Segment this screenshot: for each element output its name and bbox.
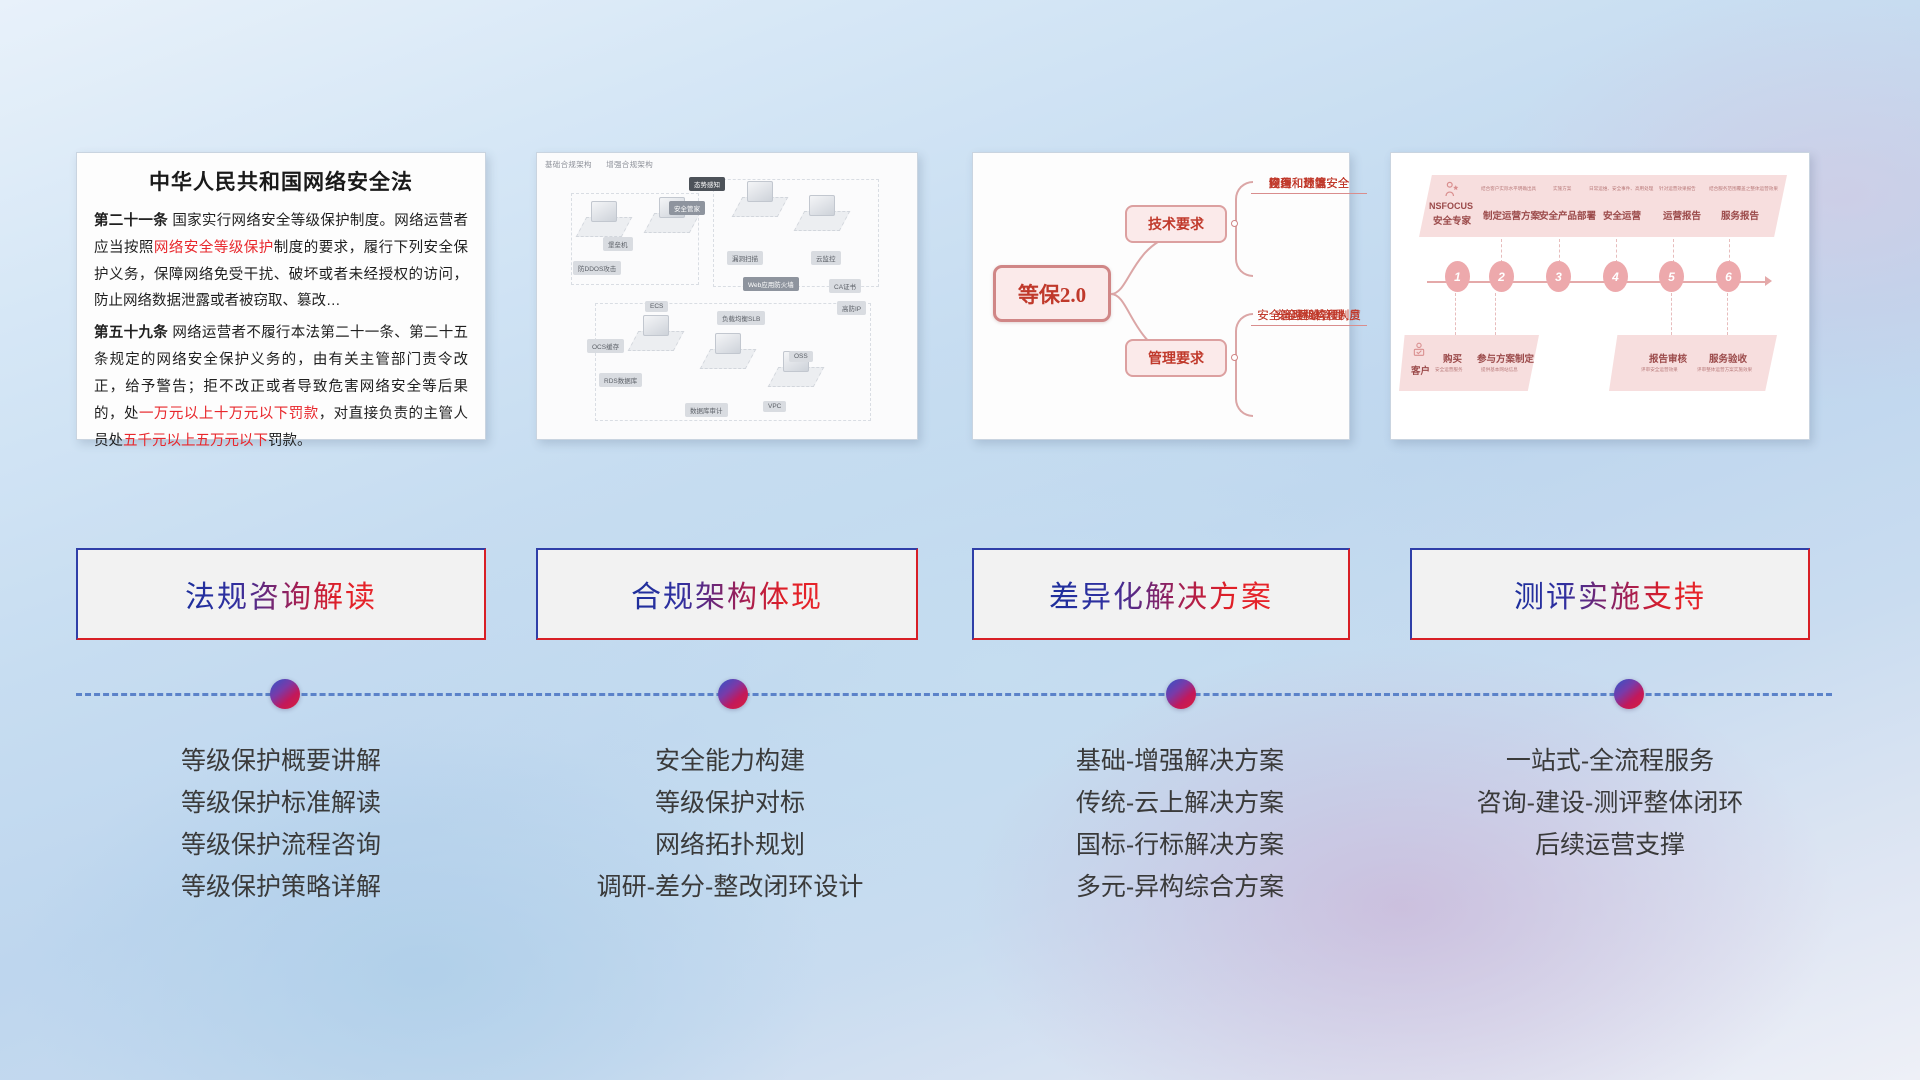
flow-step-number: 3 bbox=[1546, 261, 1571, 292]
flow-top-step-desc: 实施方案 bbox=[1553, 186, 1571, 192]
detail-column-compliance: 安全能力构建 等级保护对标 网络拓扑规划 调研-差分-整改闭环设计 bbox=[500, 740, 960, 908]
flow-tick bbox=[1727, 293, 1728, 335]
heading-label: 法规咨询解读 bbox=[185, 572, 377, 616]
mindmap-branch-tech: 技术要求 bbox=[1125, 205, 1227, 243]
timeline-dot-1[interactable] bbox=[270, 679, 300, 709]
heading-label: 差异化解决方案 bbox=[1049, 572, 1273, 616]
detail-column-assessment: 一站式-全流程服务 咨询-建设-测评整体闭环 后续运营支撑 bbox=[1400, 740, 1820, 866]
flow-top-band bbox=[1419, 175, 1787, 237]
mindmap-card[interactable]: 等保2.0 技术要求 管理要求 物理和环境安全 网络和通信安全 设备和计算安全 … bbox=[972, 152, 1350, 440]
law-article-21-highlight: 网络安全等级保护 bbox=[154, 240, 274, 256]
architecture-node-butler: 安全管家 bbox=[669, 201, 705, 215]
heading-label: 测评实施支持 bbox=[1514, 572, 1706, 616]
operation-flow-card[interactable]: NSFOCUS 安全专家 结合客户实际水平明确出具 制定运营方案 实施方案 安全… bbox=[1390, 152, 1810, 440]
flow-top-step-title: 服务报告 bbox=[1721, 208, 1759, 222]
flow-step-number: 4 bbox=[1603, 261, 1628, 292]
law-card[interactable]: 中华人民共和国网络安全法 第二十一条 国家实行网络安全等级保护制度。网络运营者应… bbox=[76, 152, 486, 440]
detail-column-regulation: 等级保护概要讲解 等级保护标准解读 等级保护流程咨询 等级保护策略详解 bbox=[76, 740, 486, 908]
flow-step-number: 5 bbox=[1659, 261, 1684, 292]
heading-label: 合规架构体现 bbox=[631, 572, 823, 616]
flow-top-step-desc: 针对运营效果报告 bbox=[1659, 186, 1696, 192]
flow-bottom-step-title: 购买 bbox=[1443, 351, 1462, 365]
law-card-title: 中华人民共和国网络安全法 bbox=[77, 166, 485, 196]
flow-top-step-title: 安全运营 bbox=[1603, 208, 1641, 222]
heading-box-assessment[interactable]: 测评实施支持 bbox=[1410, 548, 1810, 640]
architecture-legend: 基础合规架构 增强合规架构 bbox=[545, 159, 665, 170]
law-article-59: 第五十九条 网络运营者不履行本法第二十一条、第二十五条规定的网络安全保护义务的，… bbox=[94, 320, 468, 454]
list-item: 安全能力构建 bbox=[500, 740, 960, 782]
image-card-row: 中华人民共和国网络安全法 第二十一条 国家实行网络安全等级保护制度。网络运营者应… bbox=[0, 152, 1920, 444]
list-item: 等级保护流程咨询 bbox=[76, 824, 486, 866]
flow-tick bbox=[1501, 239, 1502, 263]
architecture-node-shield: 态势感知 bbox=[689, 177, 725, 191]
timeline-dot-4[interactable] bbox=[1614, 679, 1644, 709]
list-item: 传统-云上解决方案 bbox=[980, 782, 1380, 824]
flow-bottom-right-band bbox=[1609, 335, 1777, 391]
list-item: 等级保护策略详解 bbox=[76, 866, 486, 908]
mindmap-leaf: 安全运维管理 bbox=[1251, 307, 1367, 326]
list-item: 国标-行标解决方案 bbox=[980, 824, 1380, 866]
flow-step-number: 6 bbox=[1716, 261, 1741, 292]
flow-tick bbox=[1559, 239, 1560, 263]
architecture-zone-2 bbox=[713, 179, 879, 287]
architecture-server-4 bbox=[809, 195, 835, 216]
flow-top-step-desc: 日常运维、安全事件、高用处理 bbox=[1589, 186, 1653, 192]
list-item: 网络拓扑规划 bbox=[500, 824, 960, 866]
architecture-server-3 bbox=[747, 181, 773, 202]
flow-bottom-step-desc: 提供基本网站信息 bbox=[1481, 367, 1518, 373]
flow-top-step-desc: 结合服务范围覆盖之整体运营效果 bbox=[1709, 186, 1778, 192]
flow-top-step-desc: 结合客户实际水平明确出具 bbox=[1481, 186, 1536, 192]
law-article-59-highlight-2: 五千元以上五万元以下 bbox=[123, 433, 268, 449]
list-item: 一站式-全流程服务 bbox=[1400, 740, 1820, 782]
law-article-59-highlight-1: 一万元以上十万元以下罚款 bbox=[139, 406, 319, 422]
heading-box-compliance[interactable]: 合规架构体现 bbox=[536, 548, 918, 640]
timeline-dashed-line bbox=[76, 693, 1832, 696]
law-article-59-label: 第五十九条 bbox=[94, 325, 168, 341]
architecture-node-waf: Web应用防火墙 bbox=[743, 277, 799, 291]
mindmap-root-node: 等保2.0 bbox=[993, 265, 1111, 322]
architecture-node-ddos: 防DDOS攻击 bbox=[573, 261, 621, 275]
flow-tick bbox=[1729, 239, 1730, 263]
architecture-node-ecs: ECS bbox=[645, 301, 668, 312]
architecture-node-bastion: 堡垒机 bbox=[603, 237, 633, 251]
flow-top-step-title: 运营报告 bbox=[1663, 208, 1701, 222]
flow-bottom-step-desc: 评审安全运营效果 bbox=[1641, 367, 1678, 373]
flow-tick bbox=[1495, 293, 1496, 335]
mindmap-diagram: 等保2.0 技术要求 管理要求 物理和环境安全 网络和通信安全 设备和计算安全 … bbox=[973, 153, 1349, 439]
architecture-server-5 bbox=[643, 315, 669, 336]
list-item: 调研-差分-整改闭环设计 bbox=[500, 866, 960, 908]
heading-box-regulation[interactable]: 法规咨询解读 bbox=[76, 548, 486, 640]
operation-flow-diagram: NSFOCUS 安全专家 结合客户实际水平明确出具 制定运营方案 实施方案 安全… bbox=[1391, 153, 1809, 439]
flow-tick bbox=[1455, 293, 1456, 335]
law-card-body: 第二十一条 国家实行网络安全等级保护制度。网络运营者应当按照网络安全等级保护制度… bbox=[77, 196, 485, 454]
customer-icon bbox=[1411, 341, 1427, 359]
architecture-node-slb: 负载均衡SLB bbox=[717, 311, 765, 325]
architecture-node-monitor: 云监控 bbox=[811, 251, 841, 265]
flow-step-number: 2 bbox=[1489, 261, 1514, 292]
architecture-node-scan: 漏洞扫描 bbox=[727, 251, 763, 265]
flow-bottom-step-desc: 评审整体运营方案实施效果 bbox=[1697, 367, 1752, 373]
flow-axis-arrow bbox=[1765, 276, 1772, 286]
mindmap-leaf: 应用和数据安全 bbox=[1251, 175, 1367, 194]
architecture-node-ocs: OCS缓存 bbox=[587, 339, 624, 353]
architecture-node-rds: RDS数据库 bbox=[599, 373, 642, 387]
law-article-21: 第二十一条 国家实行网络安全等级保护制度。网络运营者应当按照网络安全等级保护制度… bbox=[94, 208, 468, 315]
flow-top-step-title: 制定运营方案 bbox=[1483, 208, 1540, 222]
list-item: 等级保护对标 bbox=[500, 782, 960, 824]
timeline bbox=[76, 693, 1832, 697]
flow-tick bbox=[1673, 239, 1674, 263]
security-expert-icon bbox=[1443, 181, 1461, 199]
architecture-diagram: 基础合规架构 增强合规架构 态势感知 堡垒机 安全管家 防DDOS攻击 bbox=[537, 153, 917, 439]
mindmap-branch-mgmt: 管理要求 bbox=[1125, 339, 1227, 377]
architecture-server-1 bbox=[591, 201, 617, 222]
flow-bottom-step-title: 服务验收 bbox=[1709, 351, 1747, 365]
architecture-node-antiddos-ip: 高防IP bbox=[837, 301, 866, 315]
list-item: 等级保护概要讲解 bbox=[76, 740, 486, 782]
flow-step-number: 1 bbox=[1445, 261, 1470, 292]
flow-bottom-step-title: 参与方案制定 bbox=[1477, 351, 1534, 365]
architecture-node-oss: OSS bbox=[789, 351, 813, 362]
flow-bottom-step-desc: 安全运营服务 bbox=[1435, 367, 1463, 373]
architecture-card[interactable]: 基础合规架构 增强合规架构 态势感知 堡垒机 安全管家 防DDOS攻击 bbox=[536, 152, 918, 440]
flow-actor-bottom-name: 客户 bbox=[1411, 363, 1430, 377]
architecture-server-6 bbox=[715, 333, 741, 354]
timeline-dot-3[interactable] bbox=[1166, 679, 1196, 709]
detail-column-solution: 基础-增强解决方案 传统-云上解决方案 国标-行标解决方案 多元-异构综合方案 bbox=[980, 740, 1380, 908]
architecture-node-ca: CA证书 bbox=[829, 279, 861, 293]
mindmap-curve-tech bbox=[1235, 181, 1253, 277]
flow-actor-top-role: 安全专家 bbox=[1433, 213, 1471, 227]
flow-tick bbox=[1671, 293, 1672, 335]
timeline-dot-2[interactable] bbox=[718, 679, 748, 709]
list-item: 基础-增强解决方案 bbox=[980, 740, 1380, 782]
mindmap-curve-mgmt bbox=[1235, 313, 1253, 417]
flow-tick bbox=[1616, 239, 1617, 263]
law-article-21-label: 第二十一条 bbox=[94, 213, 168, 229]
flow-top-step-title: 安全产品部署 bbox=[1539, 208, 1596, 222]
heading-box-solution[interactable]: 差异化解决方案 bbox=[972, 548, 1350, 640]
architecture-node-vpc: VPC bbox=[763, 401, 786, 412]
architecture-legend-enhanced: 增强合规架构 bbox=[606, 160, 653, 169]
list-item: 后续运营支撑 bbox=[1400, 824, 1820, 866]
list-item: 多元-异构综合方案 bbox=[980, 866, 1380, 908]
mindmap-dot-tech bbox=[1231, 220, 1238, 227]
architecture-node-db-audit: 数据库审计 bbox=[685, 403, 728, 417]
mindmap-dot-mgmt bbox=[1231, 354, 1238, 361]
flow-bottom-step-title: 报告审核 bbox=[1649, 351, 1687, 365]
architecture-legend-basic: 基础合规架构 bbox=[545, 160, 592, 169]
flow-actor-top-name: NSFOCUS bbox=[1429, 201, 1473, 211]
list-item: 咨询-建设-测评整体闭环 bbox=[1400, 782, 1820, 824]
heading-box-row: 法规咨询解读 合规架构体现 差异化解决方案 测评实施支持 bbox=[0, 548, 1920, 640]
list-item: 等级保护标准解读 bbox=[76, 782, 486, 824]
law-article-59-text-c: 罚款。 bbox=[268, 433, 312, 449]
